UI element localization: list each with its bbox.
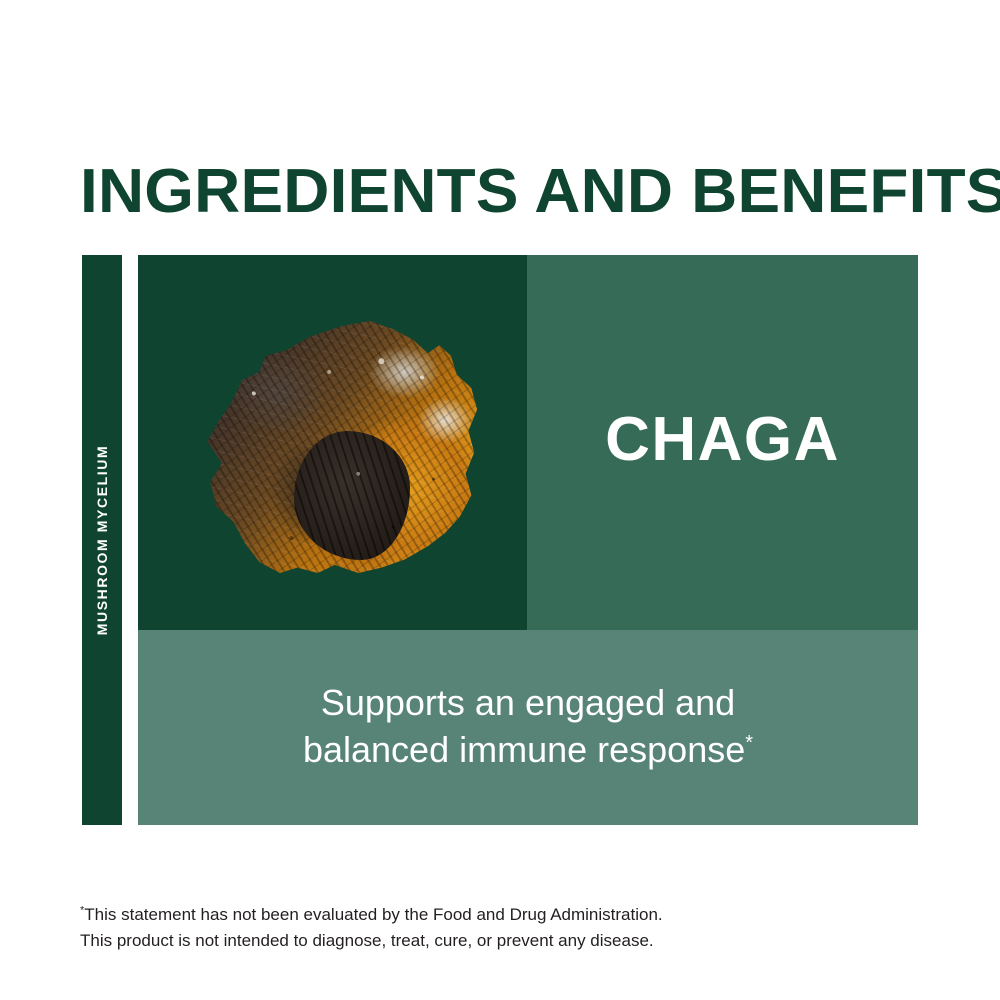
category-bar: MUSHROOM MYCELIUM xyxy=(82,255,122,825)
benefit-line-2: balanced immune response xyxy=(303,729,745,770)
disclaimer-line-2: This product is not intended to diagnose… xyxy=(80,928,860,954)
page-title: INGREDIENTS AND BENEFITS* xyxy=(80,154,966,230)
disclaimer: *This statement has not been evaluated b… xyxy=(80,902,860,954)
disclaimer-line-1: *This statement has not been evaluated b… xyxy=(80,902,860,928)
ingredient-name-pane: CHAGA xyxy=(527,255,918,630)
card-top-row: CHAGA xyxy=(138,255,918,630)
benefit-line-1: Supports an engaged and xyxy=(321,682,735,723)
benefit-band: Supports an engaged andbalanced immune r… xyxy=(138,630,918,825)
ingredient-name: CHAGA xyxy=(605,404,840,475)
category-bar-label: MUSHROOM MYCELIUM xyxy=(94,445,110,636)
chaga-speckle-texture xyxy=(190,313,480,581)
page-title-text: INGREDIENTS AND BENEFITS xyxy=(80,157,1000,226)
benefit-text: Supports an engaged andbalanced immune r… xyxy=(303,679,753,773)
disclaimer-line-1-text: This statement has not been evaluated by… xyxy=(84,905,662,924)
benefit-asterisk: * xyxy=(745,732,753,754)
ingredient-image-pane xyxy=(138,255,527,630)
ingredient-card: CHAGA Supports an engaged andbalanced im… xyxy=(138,255,918,825)
chaga-mushroom-image xyxy=(190,313,480,581)
